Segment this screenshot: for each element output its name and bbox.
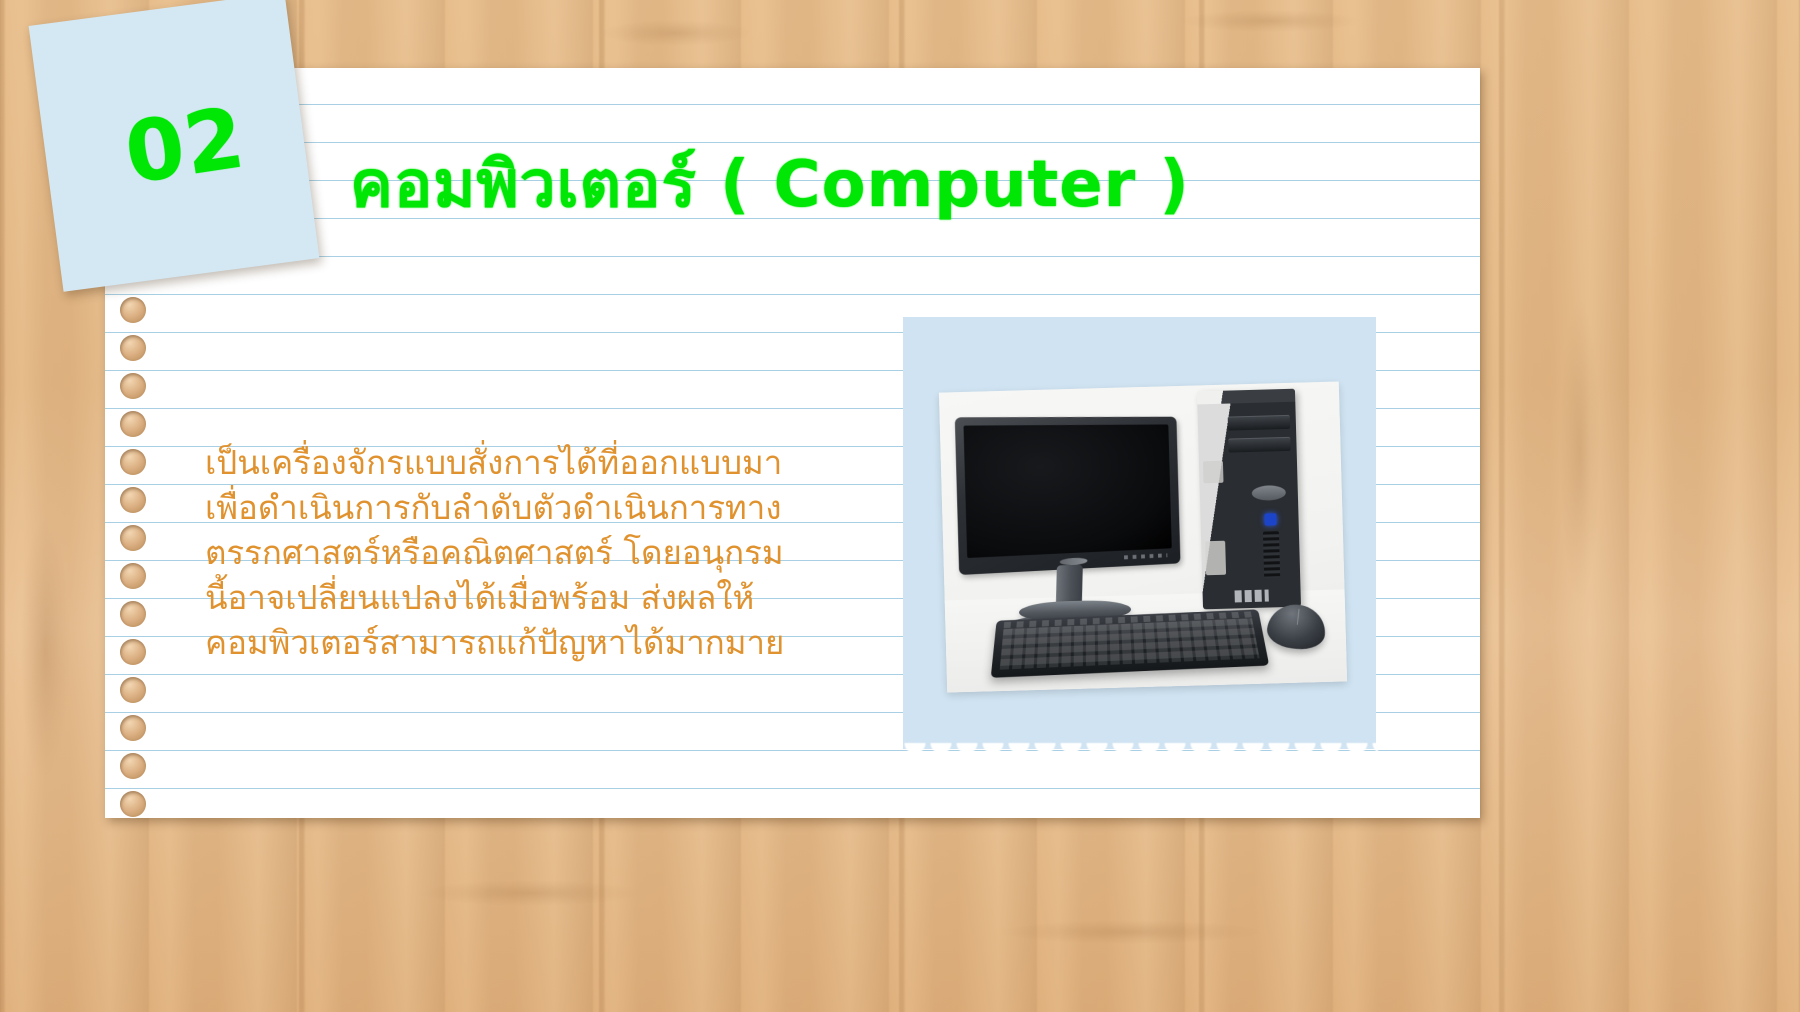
punch-hole — [120, 487, 146, 513]
sticky-note-number: 02 — [119, 88, 251, 202]
tower-drive-bay — [1228, 437, 1290, 453]
wood-grain-knot — [1560, 300, 1600, 600]
ruled-line — [105, 104, 1480, 105]
punch-hole — [120, 563, 146, 589]
tower-side-panel-detail — [1203, 461, 1224, 484]
tower-front-ports — [1235, 590, 1269, 603]
computer-tower-icon — [1197, 389, 1301, 610]
punch-hole — [120, 791, 146, 817]
punch-hole — [120, 449, 146, 475]
punch-hole — [120, 373, 146, 399]
ruled-line — [105, 142, 1480, 143]
wood-grain-knot — [20, 520, 70, 780]
tower-logo — [1252, 485, 1286, 501]
punch-hole — [120, 601, 146, 627]
punch-hole — [120, 335, 146, 361]
punch-hole — [120, 297, 146, 323]
computer-photo — [939, 381, 1347, 692]
punch-hole — [120, 525, 146, 551]
tower-power-led — [1264, 513, 1276, 525]
tower-vent — [1263, 531, 1280, 577]
torn-edge — [903, 743, 1378, 773]
tower-side-panel-detail — [1205, 541, 1226, 576]
punch-hole — [120, 715, 146, 741]
monitor-icon — [955, 417, 1181, 575]
sticky-note: 02 — [29, 0, 320, 292]
punch-hole — [120, 639, 146, 665]
wood-grain-knot — [1000, 920, 1260, 944]
ruled-line — [105, 294, 1480, 295]
punch-hole — [120, 753, 146, 779]
page-title: คอมพิวเตอร์ ( Computer ) — [350, 152, 1190, 219]
ruled-line — [105, 788, 1480, 789]
image-panel — [903, 317, 1376, 749]
body-paragraph: เป็นเครื่องจักรแบบสั่งการได้ที่ออกแบบมา … — [205, 440, 885, 665]
wood-grain-knot — [1180, 10, 1360, 32]
tower-top — [1197, 389, 1295, 405]
mouse-button-split — [1297, 609, 1300, 625]
punch-hole — [120, 411, 146, 437]
wood-grain-knot — [600, 20, 750, 46]
punch-hole — [120, 677, 146, 703]
tower-drive-bay — [1228, 415, 1290, 431]
monitor-screen — [963, 424, 1171, 558]
wood-grain-knot — [420, 880, 640, 906]
